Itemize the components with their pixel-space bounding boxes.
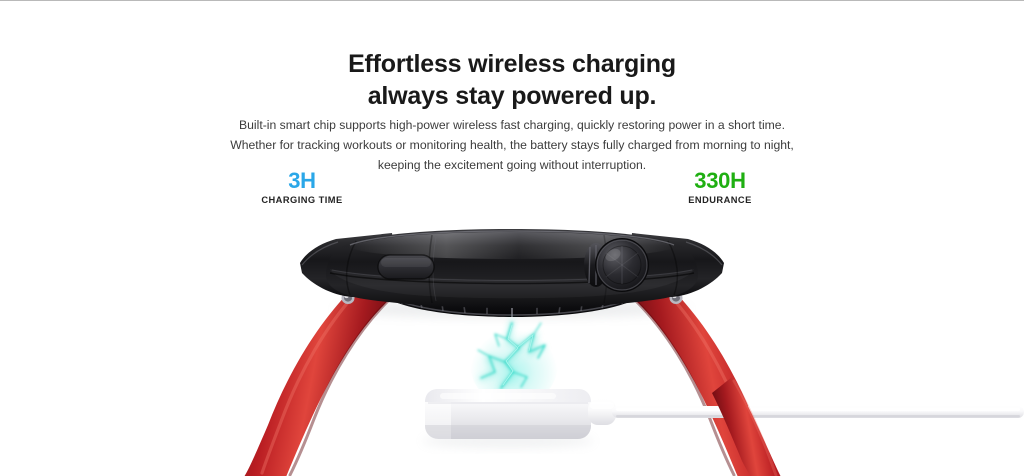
wireless-charging-puck — [422, 389, 594, 448]
stat-endurance-value: 330H — [630, 169, 810, 192]
description-paragraph: Built-in smart chip supports high-power … — [0, 116, 1024, 175]
watch-case — [300, 229, 724, 308]
stat-charging-time-label: CHARGING TIME — [212, 195, 392, 205]
headline-line-2: always stay powered up. — [0, 80, 1024, 112]
promo-banner: Effortless wireless charging always stay… — [0, 0, 1024, 476]
watch-caseback — [378, 285, 646, 317]
stat-endurance-label: ENDURANCE — [630, 195, 810, 205]
stat-charging-time: 3H CHARGING TIME — [212, 169, 392, 205]
description-line-2: Whether for tracking workouts or monitor… — [0, 136, 1024, 156]
side-button[interactable] — [378, 255, 434, 279]
charging-cable — [588, 399, 1024, 425]
description-line-1: Built-in smart chip supports high-power … — [0, 116, 1024, 136]
page-title: Effortless wireless charging always stay… — [0, 48, 1024, 112]
headline-line-1: Effortless wireless charging — [348, 50, 676, 78]
watch-shadow — [334, 300, 690, 318]
stat-endurance: 330H ENDURANCE — [630, 169, 810, 205]
stat-charging-time-value: 3H — [212, 169, 392, 192]
wireless-energy-arc — [470, 319, 558, 407]
watch-strap-right — [634, 289, 780, 476]
watch-strap-left — [244, 289, 390, 476]
description-line-3: keeping the excitement going without int… — [0, 156, 1024, 176]
lug-pin-left — [342, 292, 355, 304]
watch-strap-right-overlay — [712, 377, 781, 476]
rotating-crown[interactable] — [584, 238, 649, 292]
lug-pin-right — [670, 292, 683, 304]
